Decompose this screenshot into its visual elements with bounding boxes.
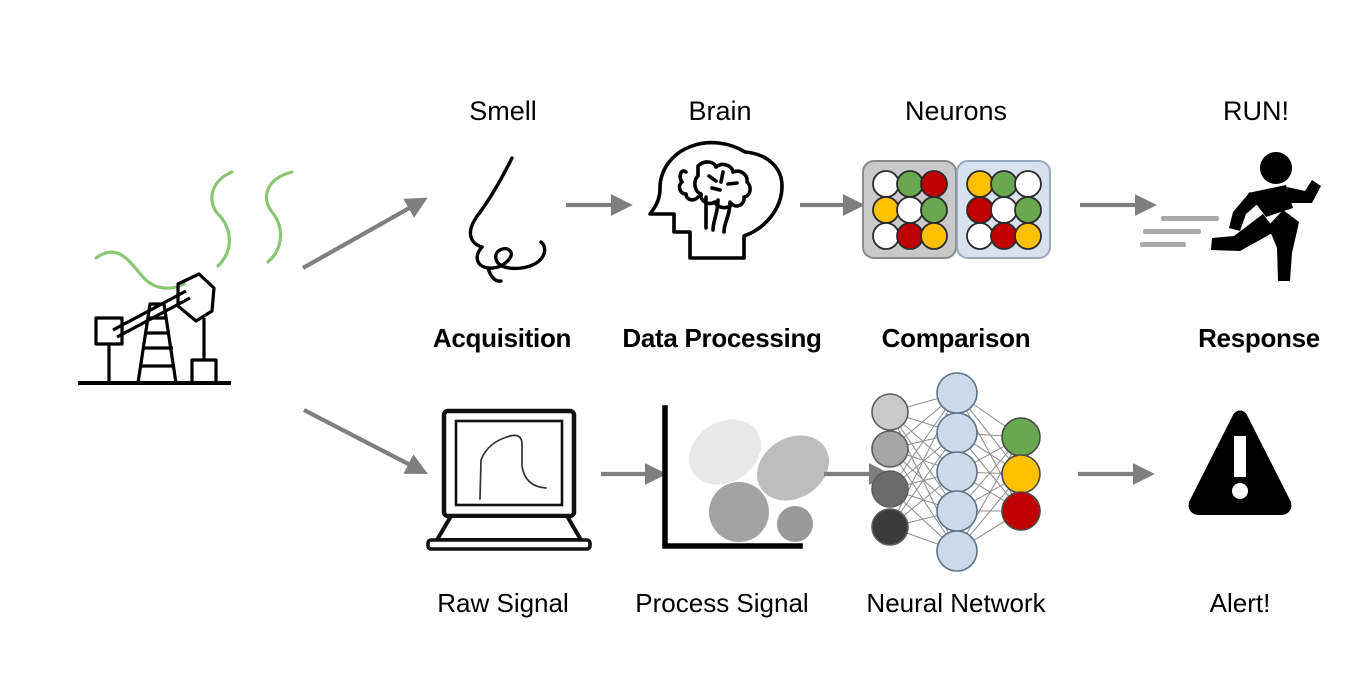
odor-source-group: Odor (0, 172, 292, 383)
branch-arrow-down (304, 410, 420, 470)
warning-triangle-icon (1189, 411, 1292, 516)
stage-label-acquisition: Acquisition (433, 325, 571, 351)
branch-arrow-up (303, 202, 420, 268)
stage-label-data-processing: Data Processing (622, 325, 821, 351)
odor-wave-icon (96, 172, 292, 288)
neuron-grid-icon (863, 161, 1050, 258)
nose-icon (470, 158, 544, 281)
label-run: RUN! (1223, 98, 1289, 125)
neuron-grid-reference (863, 161, 956, 258)
running-person-icon (1140, 152, 1321, 281)
label-neurons: Neurons (905, 98, 1007, 125)
laptop-signal-icon (428, 411, 590, 549)
label-brain: Brain (688, 98, 751, 125)
scatter-cluster-icon (665, 406, 841, 546)
stage-label-comparison: Comparison (882, 325, 1031, 351)
label-alert: Alert! (1210, 590, 1271, 616)
oil-pumpjack-icon (78, 274, 231, 383)
label-smell: Smell (469, 98, 537, 125)
neuron-grid-sample (957, 161, 1050, 258)
label-raw-signal: Raw Signal (437, 590, 569, 616)
neural-network-icon (872, 373, 1040, 571)
cluster-ellipse-group (677, 406, 841, 542)
label-process-signal: Process Signal (635, 590, 808, 616)
brain-head-icon (650, 143, 782, 258)
label-neural-network: Neural Network (866, 590, 1045, 616)
stage-label-response: Response (1198, 325, 1320, 351)
